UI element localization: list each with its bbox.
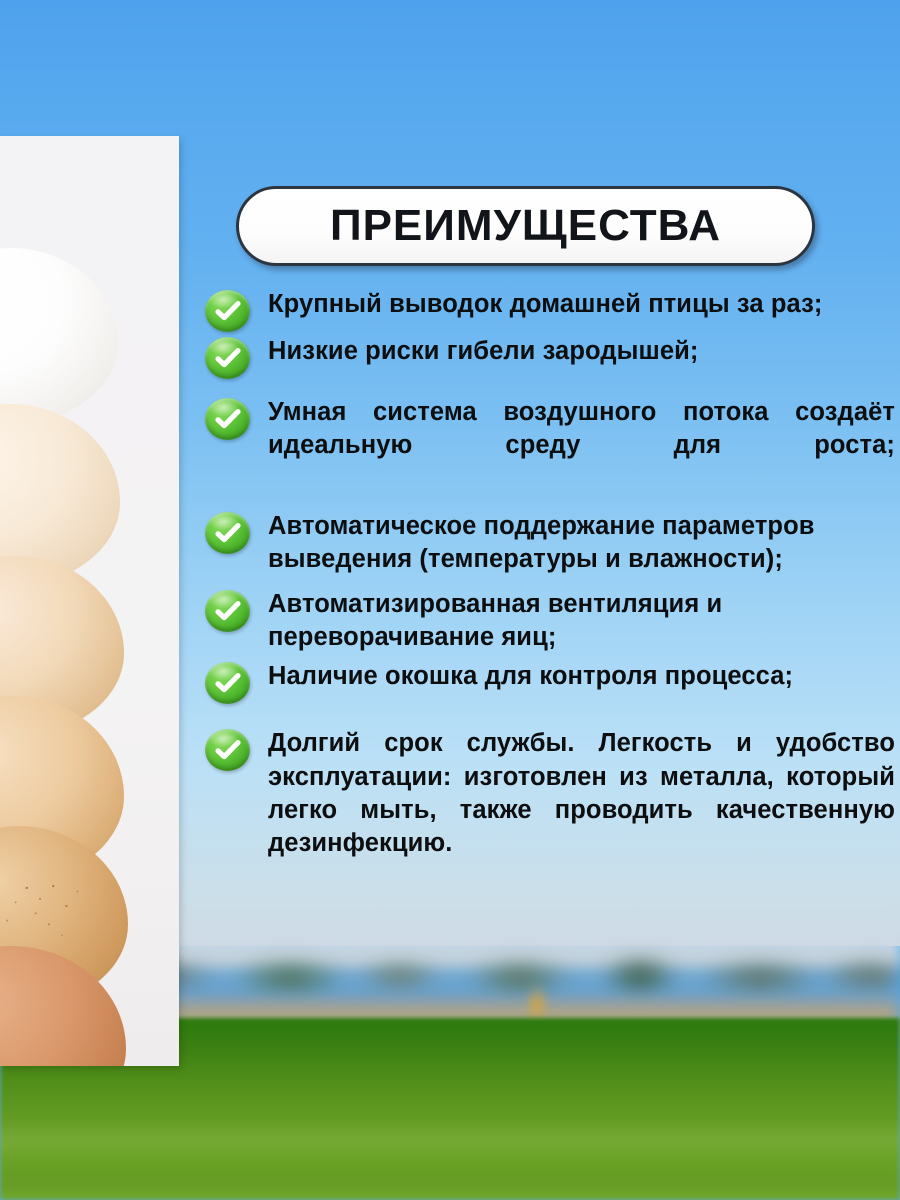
list-item-label: Крупный выводок домашней птицы за раз;: [268, 288, 895, 321]
list-item: Автоматизированная вентиляция и перевора…: [205, 588, 895, 654]
list-item: Низкие риски гибели зародышей;: [205, 335, 895, 368]
check-icon: [205, 729, 250, 771]
check-icon: [205, 337, 250, 379]
check-icon: [205, 398, 250, 440]
list-item: Умная система воздушного потока создаёт …: [205, 396, 895, 495]
page-title: ПРЕИМУЩЕСТВА: [330, 201, 721, 251]
list-item-label: Умная система воздушного потока создаёт …: [268, 396, 895, 495]
egg-stack-photo: [0, 136, 179, 1066]
check-icon: [205, 662, 250, 704]
list-item: Автоматическое поддержание параметров вы…: [205, 510, 895, 576]
page-title-pill: ПРЕИМУЩЕСТВА: [236, 186, 815, 266]
list-item-label: Автоматизированная вентиляция и перевора…: [268, 588, 895, 654]
list-item: Долгий срок службы. Легкость и удобство …: [205, 727, 895, 893]
list-item: Крупный выводок домашней птицы за раз;: [205, 288, 895, 321]
list-item-label: Автоматическое поддержание параметров вы…: [268, 510, 895, 576]
list-item: Наличие окошка для контроля процесса;: [205, 660, 895, 693]
check-icon: [205, 590, 250, 632]
list-item-label: Низкие риски гибели зародышей;: [268, 335, 895, 368]
check-icon: [205, 512, 250, 554]
check-icon: [205, 290, 250, 332]
list-item-label: Наличие окошка для контроля процесса;: [268, 660, 895, 693]
egg-white: [0, 248, 118, 424]
benefits-list: Крупный выводок домашней птицы за раз; Н…: [205, 288, 895, 907]
list-item-label: Долгий срок службы. Легкость и удобство …: [268, 727, 895, 893]
